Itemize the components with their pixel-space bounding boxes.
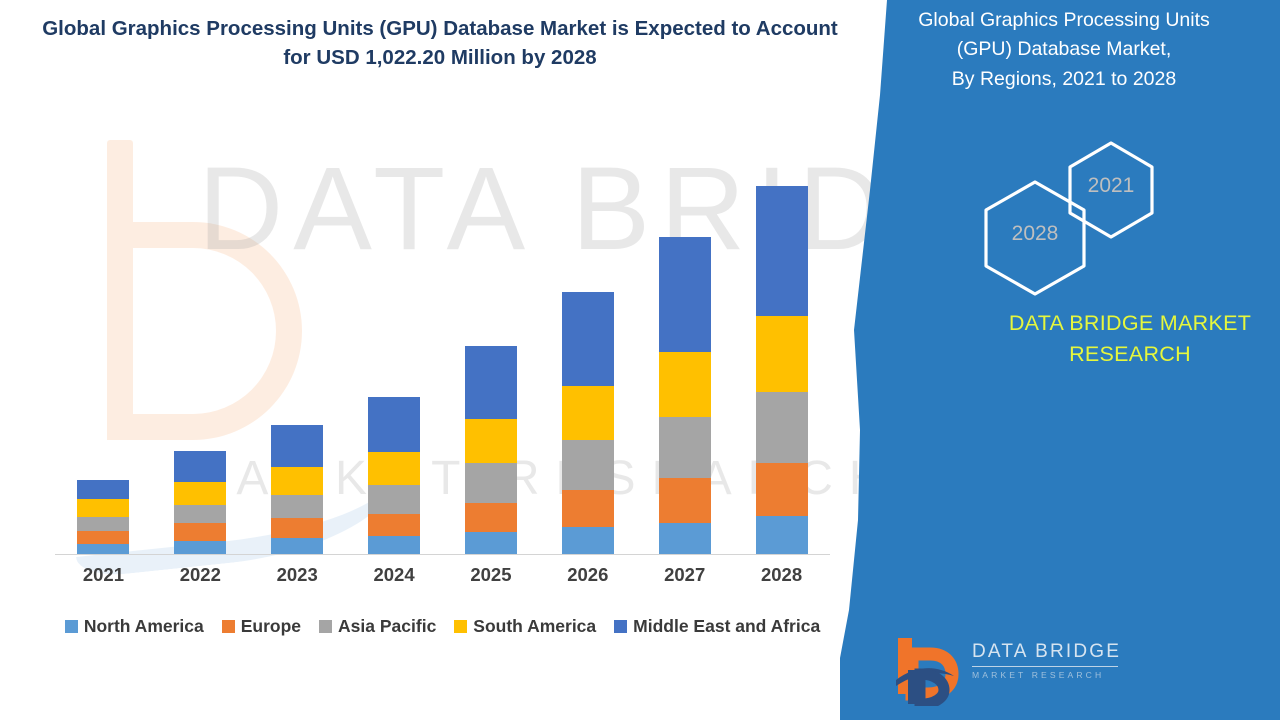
hexagon-2021: 2021 (1065, 140, 1157, 240)
chart-bar-slot (55, 120, 152, 554)
chart-segment[interactable] (659, 523, 711, 554)
company-logo: DATA BRIDGE MARKET RESEARCH (888, 634, 1118, 706)
chart-segment[interactable] (562, 527, 614, 554)
legend-swatch-icon (614, 620, 627, 633)
chart-bar-slot (249, 120, 346, 554)
legend-label: Asia Pacific (338, 616, 436, 637)
panel-brand-name: DATA BRIDGE MARKET RESEARCH (905, 308, 1280, 369)
chart-segment[interactable] (368, 397, 420, 452)
chart-segment[interactable] (368, 452, 420, 485)
company-logo-divider (972, 666, 1118, 667)
chart-segment[interactable] (756, 392, 808, 463)
panel-title-line-2: (GPU) Database Market, (864, 35, 1264, 64)
chart-segment[interactable] (465, 419, 517, 463)
chart-segment[interactable] (659, 237, 711, 352)
chart-segment[interactable] (562, 386, 614, 440)
chart-bar-slot (152, 120, 249, 554)
chart-segment[interactable] (77, 544, 129, 554)
chart-segment[interactable] (465, 346, 517, 419)
chart-x-label-2023: 2023 (249, 564, 346, 586)
chart-bar-slot (733, 120, 830, 554)
chart-x-axis-labels: 20212022202320242025202620272028 (55, 564, 830, 586)
chart-x-label-2027: 2027 (636, 564, 733, 586)
chart-segment[interactable] (659, 352, 711, 417)
chart-x-label-2028: 2028 (733, 564, 830, 586)
legend-item[interactable]: North America (65, 616, 204, 637)
chart-segment[interactable] (465, 503, 517, 532)
chart-segment[interactable] (756, 463, 808, 516)
chart-bar-slot (443, 120, 540, 554)
chart-x-label-2025: 2025 (443, 564, 540, 586)
chart-segment[interactable] (271, 467, 323, 495)
chart-segment[interactable] (562, 292, 614, 386)
hexagon-2021-label: 2021 (1065, 174, 1157, 198)
chart-segment[interactable] (368, 536, 420, 554)
chart-x-axis-line (55, 554, 830, 555)
chart-segment[interactable] (174, 482, 226, 505)
chart-bar-2023[interactable] (271, 425, 323, 554)
chart-segment[interactable] (368, 514, 420, 536)
chart-segment[interactable] (77, 499, 129, 517)
page-title: Global Graphics Processing Units (GPU) D… (40, 14, 840, 72)
stacked-bar-chart: 20212022202320242025202620272028 North A… (0, 120, 860, 680)
company-logo-mark-icon (888, 634, 964, 706)
chart-segment[interactable] (271, 518, 323, 538)
chart-x-label-2026: 2026 (539, 564, 636, 586)
chart-segment[interactable] (562, 490, 614, 527)
chart-x-label-2022: 2022 (152, 564, 249, 586)
chart-bar-2024[interactable] (368, 397, 420, 554)
chart-segment[interactable] (174, 541, 226, 555)
chart-bar-2021[interactable] (77, 480, 129, 554)
chart-segment[interactable] (659, 478, 711, 523)
chart-segment[interactable] (174, 451, 226, 481)
chart-segment[interactable] (271, 495, 323, 518)
chart-bar-slot (636, 120, 733, 554)
chart-x-label-2024: 2024 (346, 564, 443, 586)
legend-swatch-icon (319, 620, 332, 633)
legend-swatch-icon (454, 620, 467, 633)
chart-bar-2022[interactable] (174, 451, 226, 554)
slide-canvas: DATA BRIDGE MARKET RESEARCH Global Graph… (0, 0, 1280, 720)
panel-title-line-1: Global Graphics Processing Units (864, 6, 1264, 35)
chart-segment[interactable] (562, 440, 614, 490)
chart-segment[interactable] (465, 463, 517, 503)
panel-brand-line-1: DATA BRIDGE MARKET (1009, 311, 1251, 335)
legend-label: North America (84, 616, 204, 637)
chart-segment[interactable] (271, 538, 323, 554)
chart-bar-2025[interactable] (465, 346, 517, 554)
chart-legend: North AmericaEuropeAsia PacificSouth Ame… (55, 616, 830, 637)
chart-segment[interactable] (756, 316, 808, 392)
legend-label: Europe (241, 616, 301, 637)
chart-segment[interactable] (368, 485, 420, 514)
chart-segment[interactable] (756, 516, 808, 554)
panel-title-line-3: By Regions, 2021 to 2028 (864, 65, 1264, 94)
legend-item[interactable]: Asia Pacific (319, 616, 436, 637)
chart-bar-slot (346, 120, 443, 554)
legend-item[interactable]: South America (454, 616, 596, 637)
legend-label: South America (473, 616, 596, 637)
company-logo-text: DATA BRIDGE MARKET RESEARCH (972, 642, 1122, 680)
chart-bar-2028[interactable] (756, 186, 808, 554)
legend-label: Middle East and Africa (633, 616, 820, 637)
chart-segment[interactable] (77, 517, 129, 531)
chart-segment[interactable] (659, 417, 711, 478)
legend-swatch-icon (222, 620, 235, 633)
hexagon-group: 2028 2021 (980, 140, 1180, 280)
chart-x-label-2021: 2021 (55, 564, 152, 586)
legend-swatch-icon (65, 620, 78, 633)
panel-title: Global Graphics Processing Units (GPU) D… (864, 6, 1264, 94)
chart-segment[interactable] (174, 523, 226, 541)
chart-bars-container (55, 120, 830, 554)
legend-item[interactable]: Middle East and Africa (614, 616, 820, 637)
chart-segment[interactable] (756, 186, 808, 316)
company-logo-line-2: MARKET RESEARCH (972, 671, 1122, 680)
legend-item[interactable]: Europe (222, 616, 301, 637)
chart-segment[interactable] (77, 531, 129, 544)
chart-bar-2027[interactable] (659, 237, 711, 554)
chart-segment[interactable] (77, 480, 129, 499)
chart-bar-slot (539, 120, 636, 554)
chart-segment[interactable] (465, 532, 517, 554)
company-logo-line-1: DATA BRIDGE (972, 642, 1122, 661)
chart-bar-2026[interactable] (562, 292, 614, 554)
panel-brand-line-2: RESEARCH (1069, 342, 1191, 366)
chart-segment[interactable] (174, 505, 226, 523)
chart-segment[interactable] (271, 425, 323, 467)
